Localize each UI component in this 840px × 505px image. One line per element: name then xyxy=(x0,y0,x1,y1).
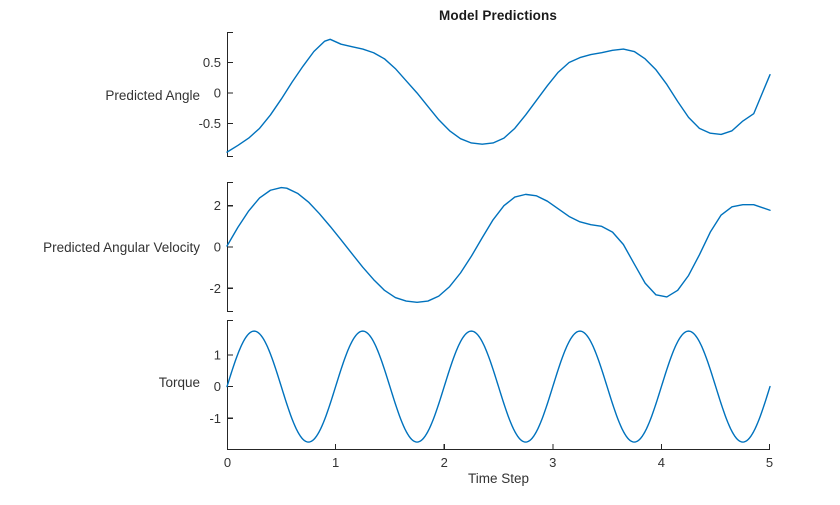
y-tick-label: 0.5 xyxy=(203,55,221,70)
y-tick-label: 0 xyxy=(214,240,221,255)
axes-torque: -101012345 xyxy=(227,320,770,450)
ylabel-predicted-angle: Predicted Angle xyxy=(0,89,200,103)
y-tick-label: -2 xyxy=(209,281,221,296)
plot-predicted-angular-velocity: -202 xyxy=(227,182,770,312)
data-series-line xyxy=(227,331,770,442)
axes-predicted-angle: -0.500.5 xyxy=(227,32,770,157)
y-tick-label: -1 xyxy=(209,411,221,426)
ylabel-predicted-angular-velocity: Predicted Angular Velocity xyxy=(0,241,200,255)
figure-title-text: Model Predictions xyxy=(439,8,557,23)
x-tick-label: 2 xyxy=(441,455,448,470)
x-tick-label: 5 xyxy=(766,455,773,470)
y-tick-label: 1 xyxy=(214,347,221,362)
data-series-line xyxy=(227,39,770,152)
figure-title: Model Predictions xyxy=(0,8,840,23)
ylabel-torque: Torque xyxy=(0,376,200,390)
x-tick-label: 3 xyxy=(549,455,556,470)
x-tick-label: 0 xyxy=(224,455,231,470)
y-tick-label: -0.5 xyxy=(199,116,221,131)
data-series-line xyxy=(227,188,770,303)
plot-torque: -101012345 xyxy=(227,320,770,450)
x-tick-label: 1 xyxy=(332,455,339,470)
y-tick-label: 0 xyxy=(214,379,221,394)
y-tick-label: 0 xyxy=(214,85,221,100)
y-tick-label: 2 xyxy=(214,198,221,213)
xlabel-time-step: Time Step xyxy=(227,471,770,486)
axes-predicted-angular-velocity: -202 xyxy=(227,182,770,312)
x-tick-label: 4 xyxy=(658,455,665,470)
plot-predicted-angle: -0.500.5 xyxy=(227,32,770,157)
figure-canvas: Model Predictions Predicted Angle -0.500… xyxy=(0,0,840,505)
